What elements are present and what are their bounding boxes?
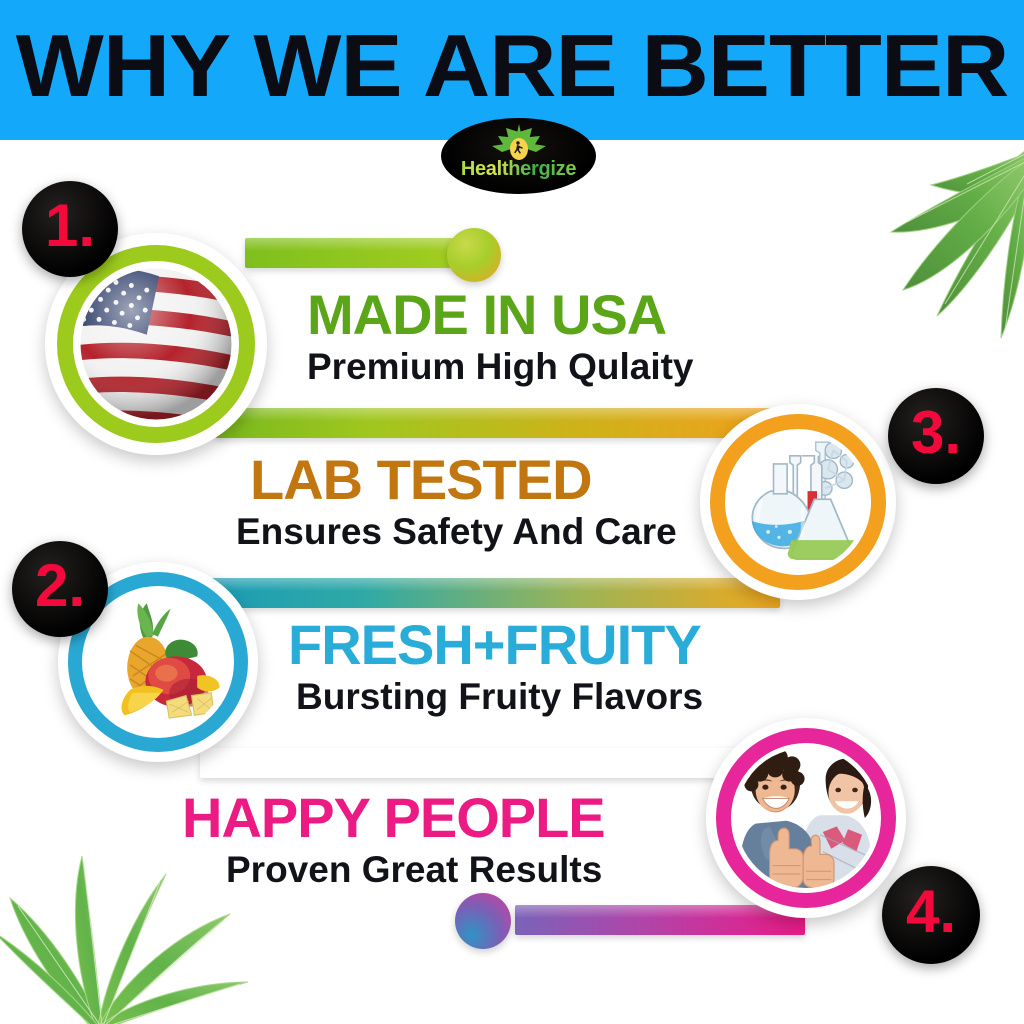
connector-bar-2 (215, 408, 775, 438)
feature-title: LAB TESTED (250, 450, 677, 510)
infographic-canvas: WHY WE ARE BETTER Healthergize (0, 0, 1024, 1024)
step-number-badge-1: 1. (22, 181, 118, 277)
feature-title: MADE IN USA (307, 285, 694, 345)
feature-title: FRESH+FRUITY (288, 615, 703, 675)
feature-text-made-in-usa: MADE IN USA Premium High Qulaity (307, 285, 694, 389)
feature-subtitle: Premium High Qulaity (307, 345, 694, 389)
feature-subtitle: Proven Great Results (226, 848, 605, 892)
step-number-badge-2: 2. (12, 541, 108, 637)
connector-node-dot-1 (447, 228, 501, 282)
feature-icon-happy-people (706, 718, 906, 918)
connector-bar-5 (515, 905, 805, 935)
connector-bar-4 (200, 748, 800, 778)
brand-logo: Healthergize (441, 118, 596, 194)
feature-text-fresh-fruity: FRESH+FRUITY Bursting Fruity Flavors (288, 615, 703, 719)
step-number-badge-3: 3. (888, 388, 984, 484)
page-title: WHY WE ARE BETTER (0, 16, 1024, 116)
feature-text-happy-people: HAPPY PEOPLE Proven Great Results (178, 788, 605, 892)
cannabis-leaf-runner-icon (488, 122, 550, 162)
connector-node-dot-2 (455, 893, 511, 949)
feature-subtitle: Bursting Fruity Flavors (296, 675, 703, 719)
happy-couple-thumbs-up-icon (736, 748, 876, 888)
tropical-fruit-icon (88, 592, 228, 732)
usa-flag-sphere-icon (79, 267, 233, 421)
lab-flasks-icon (730, 434, 866, 570)
feature-icon-lab-tested (700, 404, 896, 600)
brand-name: Healthergize (441, 158, 596, 181)
feature-text-lab-tested: LAB TESTED Ensures Safety And Care (250, 450, 677, 554)
connector-bar-3 (200, 578, 780, 608)
feature-subtitle: Ensures Safety And Care (236, 510, 677, 554)
step-number-badge-4: 4. (882, 866, 980, 964)
feature-title: HAPPY PEOPLE (182, 788, 605, 848)
cannabis-leaf-top-right (817, 138, 1024, 353)
